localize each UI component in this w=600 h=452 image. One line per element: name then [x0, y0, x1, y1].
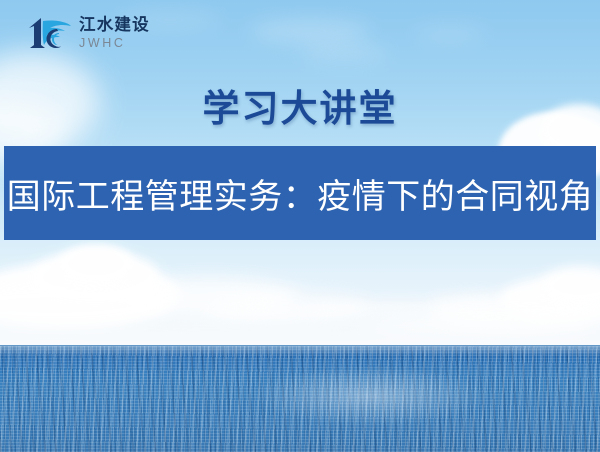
sun-glint — [250, 366, 490, 426]
poster-root: 江水建设 JWHC 学习大讲堂 国际工程管理实务：疫情下的合同视角 — [0, 0, 600, 452]
brand-name-en: JWHC — [79, 37, 150, 50]
distant-water-haze — [0, 346, 600, 356]
cirrus-wisp-icon — [415, 26, 485, 42]
topic-banner: 国际工程管理实务：疫情下的合同视角 — [4, 146, 596, 240]
brand-logo[interactable]: 江水建设 JWHC — [26, 14, 150, 52]
brand-name-cn: 江水建设 — [79, 17, 150, 34]
cloud-bank-left — [30, 250, 160, 304]
topic-banner-title: 国际工程管理实务：疫情下的合同视角 — [7, 169, 594, 218]
jwhc-wing-monogram-icon — [26, 14, 72, 52]
cirrus-wisp-icon — [250, 18, 370, 44]
horizon-haze — [0, 300, 600, 346]
brand-logo-text: 江水建设 JWHC — [79, 17, 150, 49]
page-title: 学习大讲堂 — [0, 78, 600, 132]
cloud-bank-left-peak — [58, 244, 134, 284]
cirrus-wisp-icon — [300, 44, 390, 62]
sea-background — [0, 346, 600, 452]
